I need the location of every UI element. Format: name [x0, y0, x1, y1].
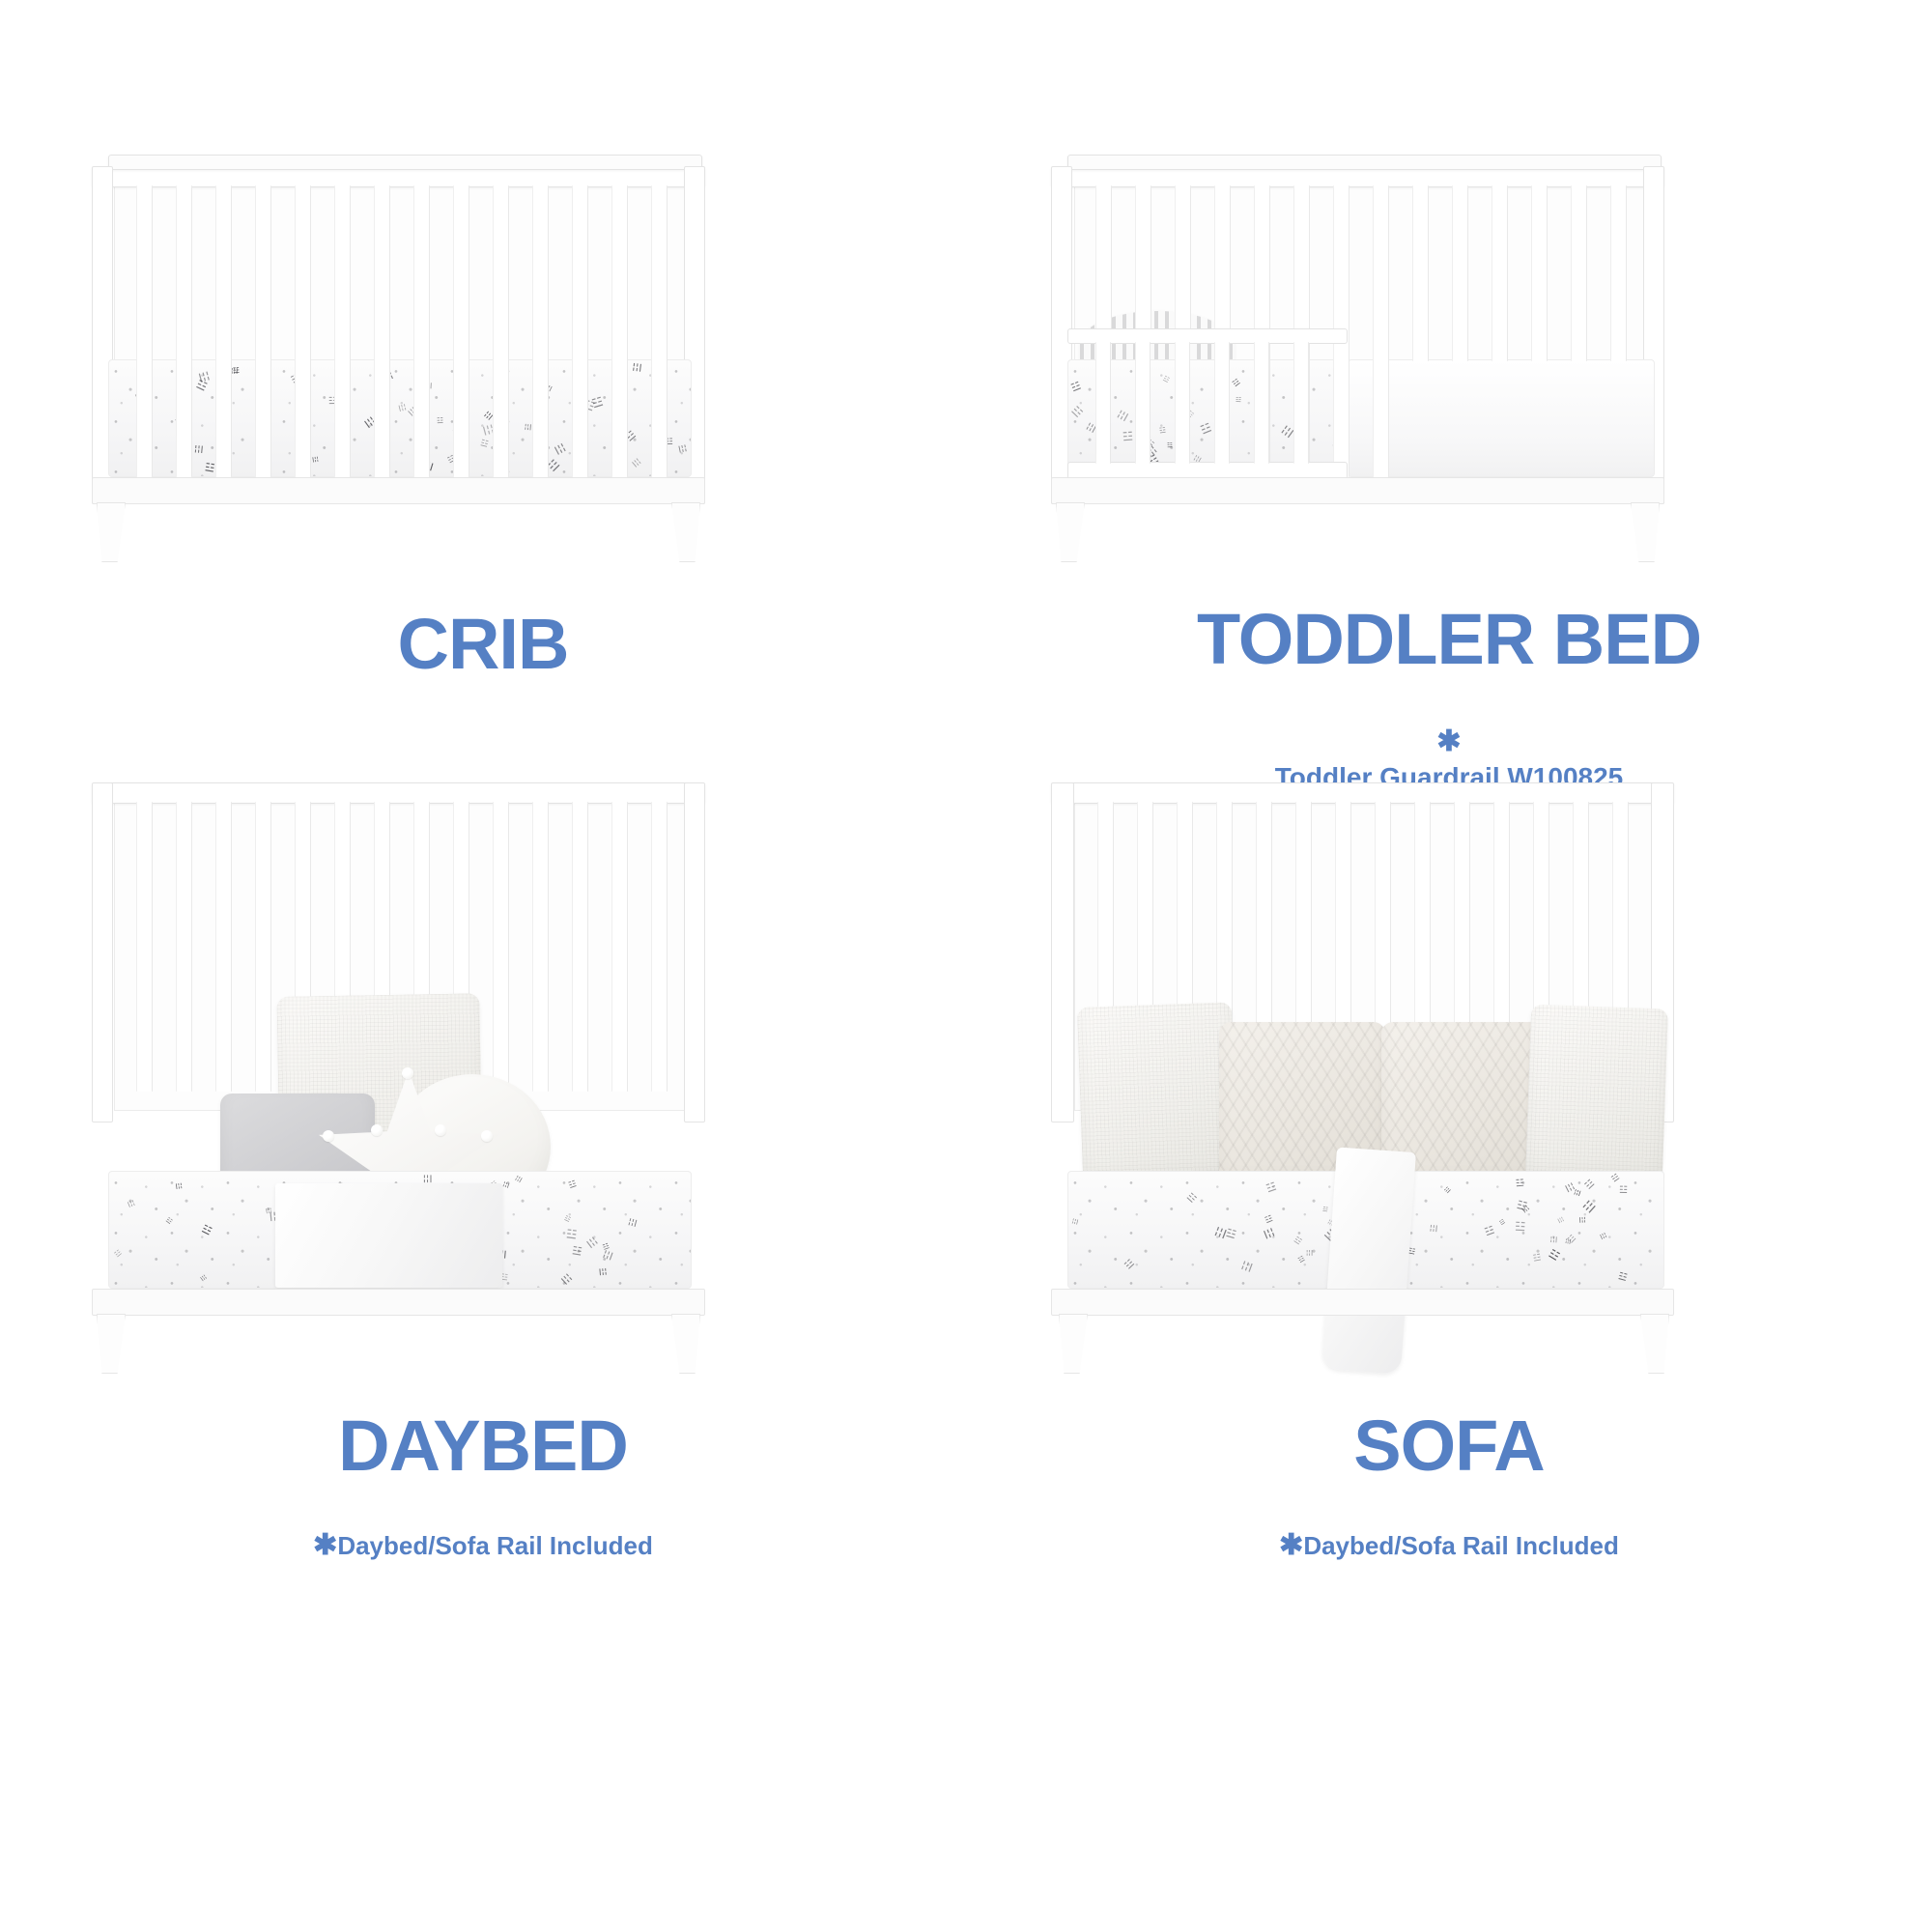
- daybed-top-rail-front: [92, 782, 705, 804]
- sheet-print-motif: ☳: [1117, 409, 1131, 423]
- crib-slat: [334, 185, 351, 477]
- sheet-print-motif: ☳: [1236, 397, 1241, 404]
- daybed-slat: [255, 802, 271, 1092]
- pom-pom: [481, 1130, 493, 1142]
- toddler-slat-back: [1373, 185, 1389, 477]
- daybed-note-text: Daybed/Sofa Rail Included: [337, 1531, 653, 1560]
- sheet-print-motif: ☳: [423, 1174, 434, 1183]
- sheet-print-motif: ☳: [1167, 442, 1173, 449]
- sheet-print-motif: ☳: [113, 1248, 123, 1258]
- sheet-print-motif: ☳: [1265, 1181, 1278, 1195]
- sheet-print-motif: ☳: [571, 1245, 582, 1258]
- sheet-print-motif: ☳: [630, 458, 641, 469]
- toddler-guardrail-slat: [1135, 342, 1151, 464]
- sheet-print-motif: ☳: [1584, 1179, 1598, 1192]
- sofa-post-left: [1051, 782, 1074, 1122]
- crib-mattress-sheet: ☳☳☳☳☳☳☳☳☳☳☳☳☳☳☳☳☳☳☳☳☳☳☳☳☳☳☳☳☳☳☳☳☳☳☳☳☳☳☳☳…: [108, 359, 692, 477]
- sofa-caption: SOFA ✱Daybed/Sofa Rail Included: [966, 1410, 1932, 1565]
- crib-slat: [572, 185, 588, 477]
- daybed-slat: [136, 802, 153, 1092]
- toddler-leg-left: [1056, 502, 1085, 562]
- toddler-guardrail-slat: [1175, 342, 1190, 464]
- sheet-print-motif: ☳: [1619, 1186, 1628, 1196]
- daybed-slat: [493, 802, 509, 1092]
- sheet-print-motif: ☳: [1599, 1232, 1608, 1240]
- pom-pom: [323, 1130, 334, 1142]
- sheet-print-motif: ☳: [633, 362, 644, 373]
- sheet-print-motif: ☳: [1582, 1200, 1599, 1216]
- toddler-bed-illustration: ☳☳☳☳☳☳☳☳☳☳☳☳☳☳☳☳☳☳☳☳☳: [966, 0, 1932, 638]
- toddler-slat-back: [1531, 185, 1548, 361]
- sofa-leg-left: [1059, 1314, 1088, 1374]
- crib-slat: [611, 185, 628, 477]
- toddler-slat-back: [1452, 185, 1468, 361]
- pom-pom: [402, 1067, 413, 1079]
- crib-caption: CRIB: [0, 609, 966, 680]
- crib-slat: [532, 185, 549, 477]
- sheet-print-motif: ☳: [502, 1180, 511, 1189]
- asterisk-icon: ✱: [1436, 725, 1461, 757]
- sheet-print-motif: ☳: [1515, 1220, 1526, 1233]
- toddler-guardrail-slat: [1293, 342, 1309, 464]
- crib-slat: [136, 185, 153, 477]
- sheet-print-motif: ☳: [199, 1274, 208, 1283]
- sheet-print-motif: ☳: [1565, 1238, 1573, 1245]
- sheet-print-motif: ☳: [568, 1180, 579, 1191]
- toddler-slat-back: [1412, 185, 1429, 361]
- daybed-bottom-rail: [92, 1289, 705, 1316]
- pom-pom: [435, 1124, 446, 1136]
- crib-slat: [374, 185, 390, 477]
- sheet-print-motif: ☳: [201, 1223, 214, 1236]
- sheet-print-motif: ☳: [396, 404, 406, 413]
- panel-daybed: ☳☳☳☳☳☳☳☳☳☳☳☳☳☳☳☳☳☳☳☳☳☳☳☳☳☳☳☳☳☳☳☳☳☳☳☳☳☳☳☳…: [0, 966, 966, 1932]
- sheet-print-motif: ☳: [204, 462, 215, 474]
- sheet-print-motif: ☳: [1577, 1216, 1585, 1223]
- sheet-print-motif: ☳: [1562, 1181, 1575, 1194]
- sheet-print-motif: ☳: [1430, 1224, 1439, 1233]
- sheet-print-motif: ☳: [264, 1207, 271, 1214]
- toddler-bed-title: TODDLER BED: [966, 604, 1932, 675]
- sheet-print-motif: ☳: [1158, 427, 1166, 436]
- crib-title: CRIB: [0, 609, 966, 680]
- sheet-print-motif: ☳: [1122, 430, 1133, 442]
- sheet-print-motif: ☳: [1184, 1192, 1198, 1206]
- sheet-print-motif: ☳: [437, 417, 443, 425]
- sheet-print-motif: ☳: [165, 1216, 174, 1226]
- panel-sofa: ☳☳☳☳☳☳☳☳☳☳☳☳☳☳☳☳☳☳☳☳☳☳☳☳☳☳☳☳☳☳☳☳☳☳☳☳☳☳☳☳…: [966, 966, 1932, 1932]
- sheet-print-motif: ☳: [1068, 405, 1084, 420]
- sheet-print-motif: ☳: [1520, 1205, 1530, 1214]
- crib-slat: [493, 185, 509, 477]
- sofa-leg-right: [1640, 1314, 1669, 1374]
- daybed-slat: [611, 802, 628, 1092]
- sheet-print-motif: ☳: [196, 370, 211, 384]
- daybed-note: ✱Daybed/Sofa Rail Included: [0, 1495, 966, 1565]
- daybed-title: DAYBED: [0, 1410, 966, 1482]
- sheet-print-motif: ☳: [311, 456, 319, 463]
- sheet-print-motif: ☳: [565, 1229, 578, 1242]
- sheet-print-motif: ☳: [1224, 1228, 1236, 1241]
- sheet-print-motif: ☳: [126, 1199, 135, 1208]
- sheet-print-motif: ☳: [558, 1272, 573, 1287]
- sheet-print-motif: ☳: [552, 441, 567, 456]
- sheet-print-motif: ☳: [1296, 1255, 1305, 1264]
- sheet-print-motif: ☳: [1307, 1249, 1315, 1256]
- daybed-caption: DAYBED ✱Daybed/Sofa Rail Included: [0, 1410, 966, 1565]
- crib-top-rail-back: [108, 155, 702, 170]
- sofa-note: ✱Daybed/Sofa Rail Included: [966, 1495, 1932, 1565]
- sheet-print-motif: ☳: [174, 1182, 183, 1190]
- daybed-folded-blanket: [275, 1183, 502, 1288]
- sheet-print-motif: ☳: [195, 444, 206, 454]
- daybed-leg-left: [97, 1314, 126, 1374]
- product-configuration-infographic: ☳☳☳☳☳☳☳☳☳☳☳☳☳☳☳☳☳☳☳☳☳☳☳☳☳☳☳☳☳☳☳☳☳☳☳☳☳☳☳☳…: [0, 0, 1932, 1932]
- sheet-print-motif: ☳: [1262, 1226, 1276, 1239]
- sheet-print-motif: ☳: [1240, 1260, 1255, 1274]
- sheet-print-motif: ☳: [1444, 1186, 1453, 1195]
- crib-illustration: ☳☳☳☳☳☳☳☳☳☳☳☳☳☳☳☳☳☳☳☳☳☳☳☳☳☳☳☳☳☳☳☳☳☳☳☳☳☳☳☳…: [0, 0, 966, 638]
- sheet-print-motif: ☳: [1550, 1236, 1559, 1243]
- sheet-print-motif: ☳: [1516, 1199, 1528, 1212]
- crib-bottom-rail: [92, 477, 705, 504]
- sheet-print-motif: ☳: [628, 1217, 639, 1228]
- sofa-throw-blanket: [1321, 1147, 1416, 1374]
- sheet-print-motif: ☳: [584, 1236, 599, 1251]
- sofa-pillow-4: [1525, 1005, 1668, 1183]
- sheet-print-motif: ☳: [231, 367, 239, 374]
- sheet-print-motif: ☳: [1555, 1217, 1564, 1225]
- sofa-pillow-1: [1077, 1002, 1237, 1182]
- pom-pom: [371, 1124, 383, 1136]
- toddler-guardrail-slat: [1214, 342, 1230, 464]
- sheet-print-motif: ☳: [1617, 1272, 1628, 1284]
- toddler-slat-back: [1492, 185, 1508, 361]
- sofa-title: SOFA: [966, 1410, 1932, 1482]
- crib-slat: [453, 185, 469, 477]
- crib-slat: [413, 185, 430, 477]
- daybed-slat: [215, 802, 232, 1092]
- sheet-print-motif: ☳: [1532, 1253, 1542, 1264]
- sofa-top-rail-front: [1051, 782, 1674, 804]
- sheet-print-motif: ☳: [1516, 1179, 1525, 1190]
- crib-slat: [215, 185, 232, 477]
- sheet-print-motif: ☳: [1610, 1174, 1621, 1185]
- sheet-print-motif: ☳: [1200, 422, 1214, 438]
- toddler-slat-back: [1175, 185, 1191, 330]
- asterisk-icon: ✱: [313, 1529, 337, 1561]
- daybed-post-left: [92, 782, 113, 1122]
- daybed-slat: [176, 802, 192, 1092]
- sheet-print-motif: ☳: [1231, 378, 1241, 388]
- daybed-slat: [572, 802, 588, 1092]
- toddler-slat-back: [1135, 185, 1151, 330]
- sheet-print-motif: ☳: [1567, 1235, 1578, 1246]
- sheet-print-motif: ☳: [1499, 1219, 1507, 1227]
- toddler-top-rail-back: [1067, 155, 1662, 170]
- toddler-slat-back: [1095, 185, 1112, 330]
- toddler-guardrail-slat: [1095, 342, 1111, 464]
- daybed-slat: [532, 802, 549, 1092]
- sheet-print-motif: ☳: [1161, 375, 1170, 384]
- sheet-print-motif: ☳: [1264, 1215, 1275, 1226]
- sheet-print-motif: ☳: [1123, 1258, 1137, 1271]
- sheet-print-motif: ☳: [602, 1242, 611, 1251]
- sheet-print-motif: ☳: [563, 1215, 572, 1224]
- sheet-print-motif: ☳: [1483, 1225, 1495, 1238]
- toddler-slat-back: [1610, 185, 1627, 361]
- sheet-print-motif: ☳: [1214, 1225, 1230, 1240]
- sheet-print-motif: ☳: [1069, 381, 1082, 394]
- daybed-leg-right: [671, 1314, 700, 1374]
- sheet-print-motif: ☳: [1071, 1218, 1080, 1226]
- sheet-print-motif: ☳: [233, 367, 241, 375]
- crib-slat: [295, 185, 311, 477]
- sheet-print-motif: ☳: [515, 1175, 525, 1184]
- toddler-mattress-plain: [1348, 359, 1655, 477]
- toddler-slat-back: [1214, 185, 1231, 330]
- sofa-bottom-rail: [1051, 1289, 1674, 1316]
- crib-leg-left: [97, 502, 126, 562]
- sheet-print-motif: ☳: [1322, 1207, 1329, 1214]
- sheet-print-motif: ☳: [1547, 1249, 1561, 1264]
- sheet-print-motif: ☳: [1573, 1188, 1581, 1197]
- toddler-bottom-rail: [1051, 477, 1664, 504]
- sheet-print-motif: ☳: [602, 1249, 615, 1262]
- sheet-print-motif: ☳: [479, 440, 489, 450]
- crib-slat: [651, 185, 668, 477]
- sheet-print-motif: ☳: [597, 1267, 607, 1276]
- sheet-print-motif: ☳: [194, 379, 209, 393]
- sofa-note-text: Daybed/Sofa Rail Included: [1303, 1531, 1619, 1560]
- crib-slat: [255, 185, 271, 477]
- crib-slat: [176, 185, 192, 477]
- asterisk-icon: ✱: [1279, 1529, 1303, 1561]
- sheet-print-motif: ☳: [675, 443, 686, 453]
- daybed-slat: [651, 802, 668, 1092]
- sheet-print-motif: ☳: [1292, 1236, 1302, 1247]
- toddler-leg-right: [1631, 502, 1660, 562]
- toddler-guardrail-slat: [1254, 342, 1269, 464]
- daybed-post-right: [684, 782, 705, 1122]
- toddler-slat-back: [1571, 185, 1587, 361]
- crib-leg-right: [671, 502, 700, 562]
- sheet-print-motif: ☳: [591, 396, 606, 411]
